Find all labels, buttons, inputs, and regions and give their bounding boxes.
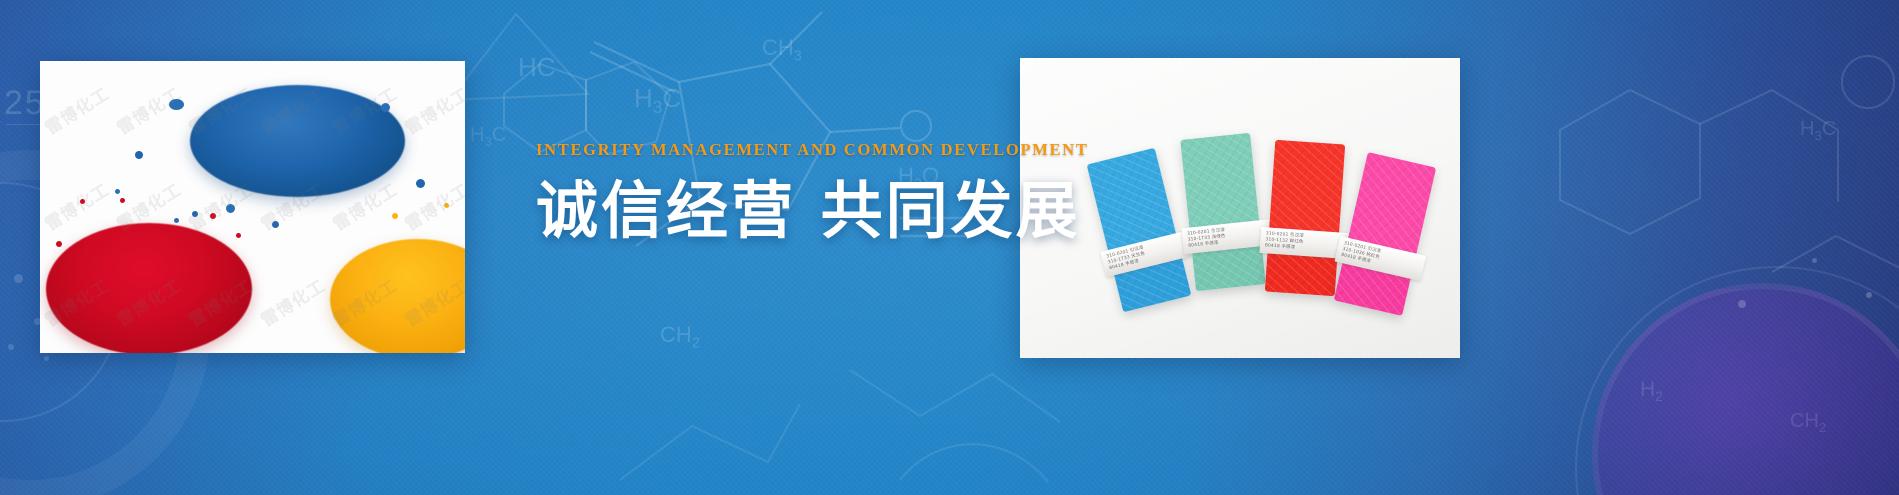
watermark-text: 雷博化工 xyxy=(236,337,348,353)
pigment-speck xyxy=(80,199,85,204)
pigment-speck xyxy=(174,218,179,223)
pigment-speck xyxy=(226,204,235,213)
pigment-speck xyxy=(392,213,398,219)
color-card-group: 310-0201 引汉漆310-1T33 天兰色80418 手感漆310-020… xyxy=(1020,58,1460,358)
molecule-outline-right xyxy=(1520,20,1899,320)
mint-color-card: 310-0201 引汉漆310-1T33 浅绿色80418 手感漆 xyxy=(1180,133,1266,291)
pink-color-card: 310-0201 引汉漆310-1036 桃红色80418 手感漆 xyxy=(1334,152,1436,316)
pigment-speck xyxy=(115,189,120,194)
pigment-speck xyxy=(272,221,279,228)
chem-formula-label: H3C xyxy=(634,83,681,118)
pigment-speck xyxy=(367,261,374,268)
pigment-speck xyxy=(135,151,143,159)
promo-banner: 250 xyxy=(0,0,1899,495)
decorative-dot xyxy=(1738,300,1746,308)
watermark-text: 雷博化工 xyxy=(92,61,204,169)
pigment-speck xyxy=(381,103,390,112)
chem-formula-label: HC xyxy=(518,52,556,83)
pigment-speck xyxy=(56,241,62,247)
pigment-speck xyxy=(416,179,425,188)
blue-pigment-pile xyxy=(190,85,405,197)
decorative-circle-right-ring xyxy=(1575,266,1899,495)
chem-formula-label: H3C xyxy=(1800,118,1836,143)
pigment-speck xyxy=(169,99,184,110)
red-pigment-pile xyxy=(46,223,252,353)
card-texture xyxy=(1265,140,1345,297)
chem-formula-label: CH2 xyxy=(1790,410,1826,435)
headline-chinese: 诚信经营 共同发展 xyxy=(536,178,1016,243)
watermark-text: 雷博化工 xyxy=(40,61,132,169)
pigment-speck xyxy=(236,233,241,238)
blue-color-card: 310-0201 引汉漆310-1T33 天兰色80418 手感漆 xyxy=(1087,148,1192,312)
decorative-dot xyxy=(44,356,49,361)
decorative-dot xyxy=(1866,292,1872,298)
red-color-card: 310-0201 引汉漆310-1132 鲜红色80418 手感漆 xyxy=(1265,140,1345,297)
chem-formula-label: H2 xyxy=(1640,378,1663,404)
pigment-speck xyxy=(444,203,449,208)
pigment-speck xyxy=(120,198,125,203)
headline-block: INTEGRITY MANAGEMENT AND COMMON DEVELOPM… xyxy=(536,140,1016,243)
chem-formula-label: CH2 xyxy=(660,322,700,351)
chem-formula-label: CH3 xyxy=(762,35,802,64)
tagline-english: INTEGRITY MANAGEMENT AND COMMON DEVELOPM… xyxy=(536,140,1016,160)
pigment-powder-photo: 雷博化工雷博化工雷博化工雷博化工雷博化工雷博化工雷博化工雷博化工雷博化工雷博化工… xyxy=(40,61,465,353)
pigment-speck xyxy=(210,213,216,219)
color-sample-cards-photo: 310-0201 引汉漆310-1T33 天兰色80418 手感漆310-020… xyxy=(1020,58,1460,358)
decorative-circle-right xyxy=(1592,283,1899,495)
decorative-dot xyxy=(8,344,14,350)
chem-formula-label: H3C xyxy=(470,124,506,149)
card-texture xyxy=(1180,133,1266,291)
pigment-speck xyxy=(192,211,198,217)
card-texture xyxy=(1334,152,1436,316)
decorative-dot xyxy=(14,274,23,283)
card-texture xyxy=(1087,148,1192,312)
decorative-dot xyxy=(1812,258,1817,263)
yellow-pigment-pile xyxy=(330,239,465,353)
